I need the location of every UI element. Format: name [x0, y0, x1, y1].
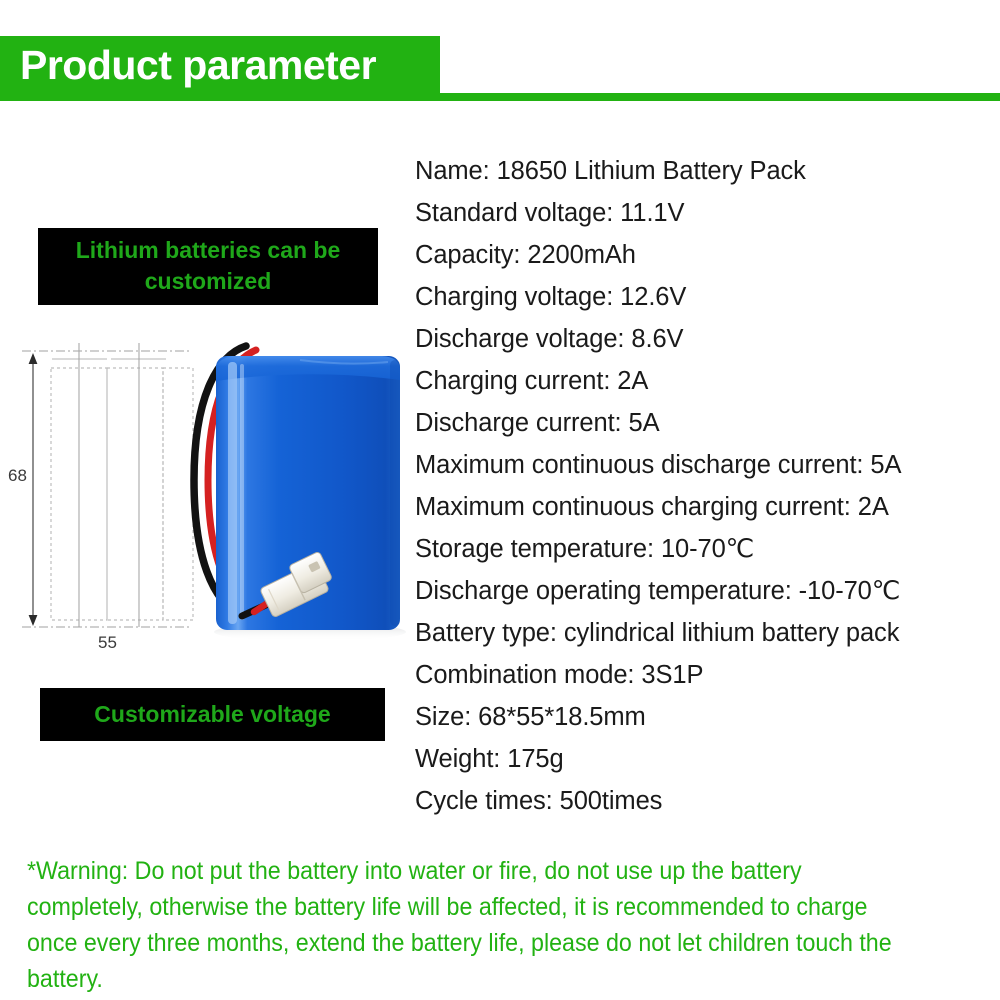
dimension-label-height: 68 [8, 466, 27, 486]
spec-row: Charging voltage: 12.6V [415, 276, 995, 318]
badge-customizable-voltage: Customizable voltage [40, 688, 385, 741]
spec-row: Cycle times: 500times [415, 780, 995, 822]
spec-row: Battery type: cylindrical lithium batter… [415, 612, 995, 654]
battery-highlight-stripe [228, 362, 237, 624]
specification-list: Name: 18650 Lithium Battery Pack Standar… [415, 150, 995, 822]
page-title: Product parameter [20, 40, 440, 90]
warning-notice: *Warning: Do not put the battery into wa… [27, 853, 911, 997]
arrowhead-bottom [29, 615, 38, 626]
badge-lithium-customizable: Lithium batteries can be customized [38, 228, 378, 305]
spec-row: Capacity: 2200mAh [415, 234, 995, 276]
spec-row: Discharge voltage: 8.6V [415, 318, 995, 360]
spec-row: Charging current: 2A [415, 360, 995, 402]
spec-row: Weight: 175g [415, 738, 995, 780]
spec-row: Name: 18650 Lithium Battery Pack [415, 150, 995, 192]
battery-right-edge-shade [390, 360, 400, 626]
dimension-label-width: 55 [98, 633, 117, 653]
spec-row: Maximum continuous discharge current: 5A [415, 444, 995, 486]
battery-pack-illustration [150, 340, 410, 640]
arrowhead-top [29, 353, 38, 364]
product-photo-battery-pack [150, 340, 410, 640]
spec-row: Size: 68*55*18.5mm [415, 696, 995, 738]
header-divider-rule [0, 93, 1000, 101]
spec-row: Discharge current: 5A [415, 402, 995, 444]
spec-row: Storage temperature: 10-70℃ [415, 528, 995, 570]
battery-highlight-stripe-thin [240, 364, 244, 620]
spec-row: Combination mode: 3S1P [415, 654, 995, 696]
spec-row: Discharge operating temperature: -10-70℃ [415, 570, 995, 612]
spec-row: Standard voltage: 11.1V [415, 192, 995, 234]
spec-row: Maximum continuous charging current: 2A [415, 486, 995, 528]
